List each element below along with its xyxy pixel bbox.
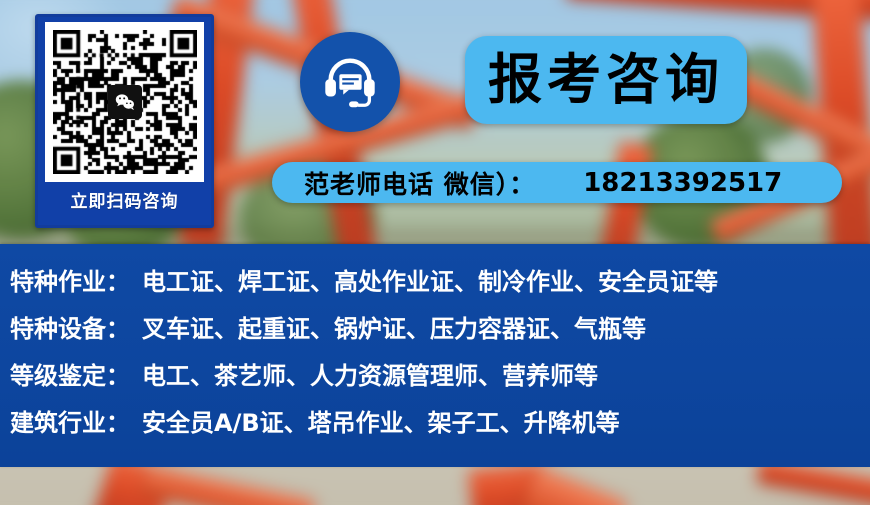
category-items: 电工证、焊工证、高处作业证、制冷作业、安全员证等 bbox=[142, 262, 718, 297]
category-label: 等级鉴定： bbox=[10, 356, 130, 391]
category-label: 建筑行业： bbox=[10, 403, 130, 438]
promo-poster: 立即扫码咨询 报考咨询 范老师电话 微信）： 18213392517 特种作业：… bbox=[0, 0, 870, 505]
category-row: 建筑行业： 安全员A/B证、塔吊作业、架子工、升降机等 bbox=[0, 403, 870, 450]
title-pill: 报考咨询 bbox=[465, 36, 747, 124]
contact-label: 范老师电话 微信）： bbox=[304, 165, 535, 201]
category-row: 特种作业： 电工证、焊工证、高处作业证、制冷作业、安全员证等 bbox=[0, 244, 870, 309]
title-text: 报考咨询 bbox=[488, 53, 724, 107]
category-items: 电工、茶艺师、人力资源管理师、营养师等 bbox=[142, 356, 598, 391]
phone-number[interactable]: 18213392517 bbox=[583, 168, 782, 198]
wechat-icon bbox=[108, 85, 142, 119]
category-label: 特种作业： bbox=[10, 262, 130, 297]
category-row: 特种设备： 叉车证、起重证、锅炉证、压力容器证、气瓶等 bbox=[0, 309, 870, 356]
category-row: 等级鉴定： 电工、茶艺师、人力资源管理师、营养师等 bbox=[0, 356, 870, 403]
qr-code-image[interactable] bbox=[45, 22, 204, 182]
headset-support-icon bbox=[300, 32, 400, 132]
category-items: 安全员A/B证、塔吊作业、架子工、升降机等 bbox=[142, 403, 620, 438]
contact-pill[interactable]: 范老师电话 微信）： 18213392517 bbox=[272, 162, 842, 203]
category-label: 特种设备： bbox=[10, 309, 130, 344]
qr-caption: 立即扫码咨询 bbox=[38, 182, 211, 222]
categories-panel: 特种作业： 电工证、焊工证、高处作业证、制冷作业、安全员证等 特种设备： 叉车证… bbox=[0, 244, 870, 467]
qr-code-card[interactable]: 立即扫码咨询 bbox=[35, 14, 214, 228]
category-items: 叉车证、起重证、锅炉证、压力容器证、气瓶等 bbox=[142, 309, 646, 344]
